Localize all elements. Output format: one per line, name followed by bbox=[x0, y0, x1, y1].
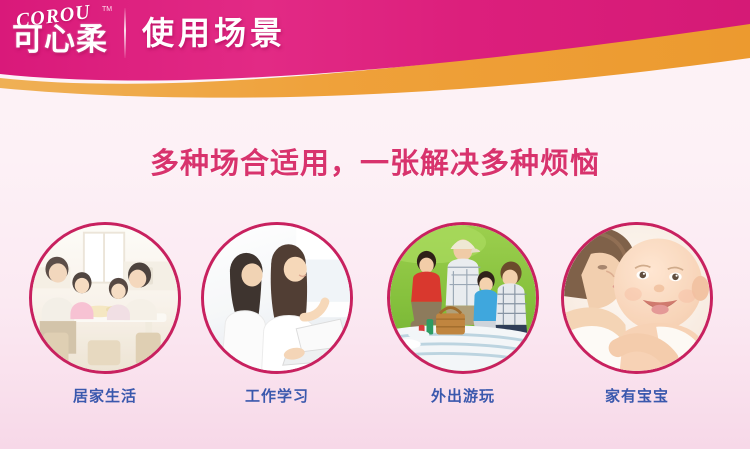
scene-list: 居家生活 bbox=[0, 222, 750, 422]
header-banner: COROU TM 可心柔 使用场景 bbox=[0, 0, 750, 100]
scene-label: 工作学习 bbox=[199, 385, 355, 406]
scene-item-outdoor-trip[interactable]: 外出游玩 bbox=[385, 222, 541, 406]
scene-item-home-life[interactable]: 居家生活 bbox=[27, 222, 183, 406]
brand-logo: COROU TM 可心柔 bbox=[10, 4, 118, 66]
scene-label: 外出游玩 bbox=[385, 385, 541, 406]
trademark-mark: TM bbox=[102, 6, 112, 13]
family-dining-at-home-photo bbox=[29, 222, 181, 374]
two-women-at-laptop-photo bbox=[201, 222, 353, 374]
scene-item-work-study[interactable]: 工作学习 bbox=[199, 222, 355, 406]
banner-title: 使用场景 bbox=[142, 10, 286, 56]
scene-label: 家有宝宝 bbox=[559, 385, 715, 406]
scene-item-has-baby[interactable]: 家有宝宝 bbox=[559, 222, 715, 406]
banner-divider bbox=[124, 8, 126, 58]
mother-kissing-baby-photo bbox=[561, 222, 713, 374]
page-headline: 多种场合适用，一张解决多种烦恼 bbox=[0, 140, 750, 182]
scene-label: 居家生活 bbox=[27, 385, 183, 406]
promo-banner-page: COROU TM 可心柔 使用场景 多种场合适用，一张解决多种烦恼 bbox=[0, 0, 750, 449]
logo-chinese-text: 可心柔 bbox=[12, 20, 118, 60]
family-picnic-on-grass-photo bbox=[387, 222, 539, 374]
